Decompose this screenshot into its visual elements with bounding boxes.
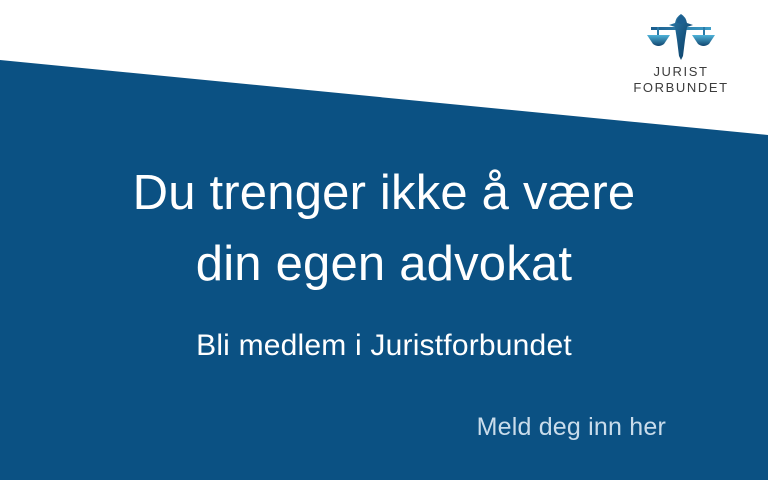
logo-text-line-2: FORBUNDET (622, 80, 740, 96)
scales-of-justice-icon (645, 12, 717, 60)
headline-line-1: Du trenger ikke å være (0, 158, 768, 229)
logo-text-line-1: JURIST (622, 64, 740, 80)
subheadline: Bli medlem i Juristforbundet (0, 327, 768, 365)
juristforbundet-logo[interactable]: JURIST FORBUNDET (622, 12, 740, 96)
advertisement-banner[interactable]: JURIST FORBUNDET Du trenger ikke å være … (0, 0, 768, 480)
headline: Du trenger ikke å være din egen advokat (0, 158, 768, 300)
headline-line-2: din egen advokat (0, 229, 768, 300)
signup-cta-link[interactable]: Meld deg inn her (477, 411, 666, 443)
